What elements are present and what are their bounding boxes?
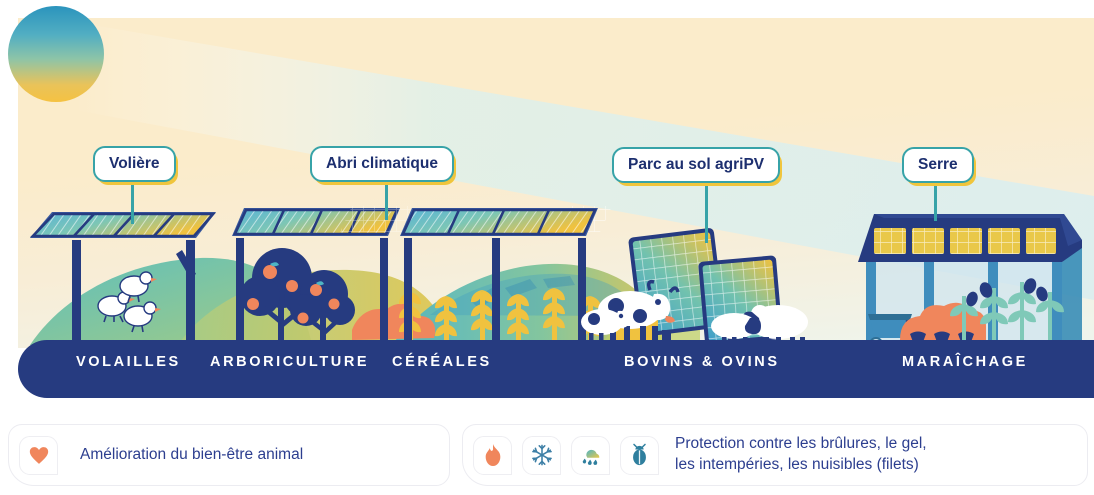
category-label-maraichage: MARAÎCHAGE — [902, 354, 1028, 370]
callout-stem-abri — [385, 180, 388, 220]
infographic-root: VOLAILLES ARBORICULTURE CÉRÉALES BOVINS … — [0, 0, 1094, 495]
flame-icon — [473, 436, 512, 475]
legend-protection: Protection contre les brûlures, le gel, … — [462, 424, 1088, 486]
callout-voliere[interactable]: Volière — [93, 146, 176, 182]
legend-right-text: Protection contre les brûlures, le gel, … — [675, 434, 927, 476]
callout-parc-au-sol[interactable]: Parc au sol agriPV — [612, 147, 780, 183]
legend-animal-welfare: Amélioration du bien-être animal — [8, 424, 450, 486]
callout-stem-voliere — [131, 180, 134, 224]
scene: VOLAILLES ARBORICULTURE CÉRÉALES BOVINS … — [0, 0, 1094, 400]
rain-cloud-icon — [571, 436, 610, 475]
legend-left-text: Amélioration du bien-être animal — [80, 445, 303, 466]
callout-abri-climatique[interactable]: Abri climatique — [310, 146, 454, 182]
legend-right-line1: Protection contre les brûlures, le gel, — [675, 434, 927, 455]
callout-stem-parc — [705, 181, 708, 243]
heart-icon — [19, 436, 58, 475]
snowflake-icon — [522, 436, 561, 475]
category-label-arboriculture: ARBORICULTURE — [210, 354, 369, 370]
callout-stem-serre — [934, 181, 937, 221]
legend-right-line2: les intempéries, les nuisibles (filets) — [675, 455, 927, 476]
callout-serre[interactable]: Serre — [902, 147, 974, 183]
category-label-cereales: CÉRÉALES — [392, 354, 492, 370]
category-band: VOLAILLES ARBORICULTURE CÉRÉALES BOVINS … — [18, 340, 1094, 398]
category-label-bovins-ovins: BOVINS & OVINS — [624, 354, 780, 370]
band-right-cap — [1034, 340, 1094, 398]
category-label-volailles: VOLAILLES — [76, 354, 181, 370]
bug-icon — [620, 436, 659, 475]
